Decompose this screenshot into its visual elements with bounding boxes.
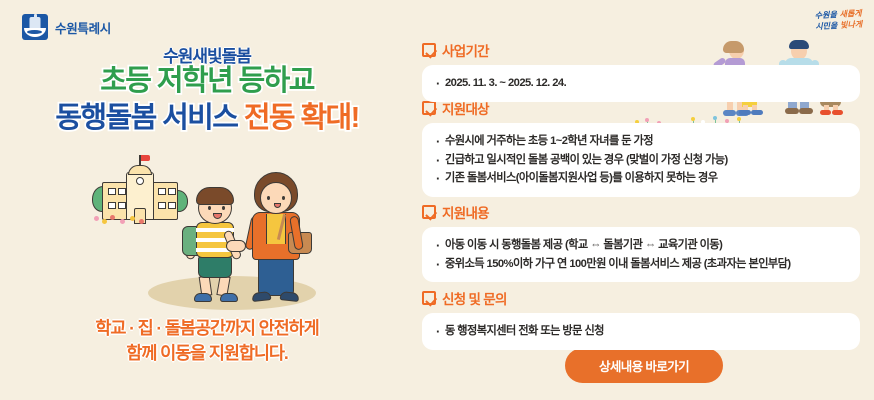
section-card: 동 행정복지센터 전화 또는 방문 신청 — [422, 313, 860, 350]
bullet-list: 아동 이동 시 동행돌봄 제공 (학교 ⇔ 돌봄기관 ⇔ 교육기관 이동) 중위… — [436, 236, 846, 273]
right-panel: 사업기간 2025. 11. 3. ~ 2025. 12. 24. 지원대상 수… — [414, 0, 874, 400]
bullet-list: 수원시에 거주하는 초등 1~2학년 자녀를 둔 가정 긴급하고 일시적인 돌봄… — [436, 132, 846, 188]
flower-bed-icon — [92, 214, 148, 226]
list-item: 긴급하고 일시적인 돌봄 공백이 있는 경우 (맞벌이 가정 신청 가능) — [436, 151, 846, 170]
section-card: 2025. 11. 3. ~ 2025. 12. 24. — [422, 65, 860, 102]
section-title: 지원내용 — [442, 202, 489, 222]
child-and-caregiver-illustration — [88, 148, 328, 316]
headline-line-2: 동행돌봄 서비스 전동 확대! — [0, 100, 414, 137]
school-building-icon — [92, 164, 188, 224]
list-item: 2025. 11. 3. ~ 2025. 12. 24. — [436, 74, 846, 93]
list-item: 동 행정복지센터 전화 또는 방문 신청 — [436, 322, 846, 341]
section-project-period: 사업기간 2025. 11. 3. ~ 2025. 12. 24. — [414, 40, 874, 102]
bottom-slogan-line-1: 학교 · 집 · 돌봄공간까지 안전하게 — [0, 316, 414, 341]
list-item: 중위소득 150%이하 가구 연 100만원 이내 돌봄서비스 제공 (초과자는… — [436, 255, 846, 274]
section-support-details: 지원내용 아동 이동 시 동행돌봄 제공 (학교 ⇔ 돌봄기관 ⇔ 교육기관 이… — [414, 202, 874, 282]
checkbox-checked-icon — [422, 43, 436, 57]
checkbox-checked-icon — [422, 291, 436, 305]
bottom-slogan: 학교 · 집 · 돌봄공간까지 안전하게 함께 이동을 지원합니다. — [0, 316, 414, 367]
section-header: 신청 및 문의 — [422, 288, 874, 308]
section-title: 사업기간 — [442, 40, 489, 60]
view-details-button[interactable]: 상세내용 바로가기 — [565, 348, 723, 383]
cta-container: 상세내용 바로가기 — [414, 348, 874, 383]
headline-line-1: 초등 저학년 등하교 — [0, 63, 414, 100]
section-card: 아동 이동 시 동행돌봄 제공 (학교 ⇔ 돌봄기관 ⇔ 교육기관 이동) 중위… — [422, 227, 860, 282]
list-item: 아동 이동 시 동행돌봄 제공 (학교 ⇔ 돌봄기관 ⇔ 교육기관 이동) — [436, 236, 846, 255]
bullet-list: 동 행정복지센터 전화 또는 방문 신청 — [436, 322, 846, 341]
left-panel: 수원새빛돌봄 초등 저학년 등하교 동행돌봄 서비스 전동 확대! — [0, 0, 414, 400]
bottom-slogan-line-2: 함께 이동을 지원합니다. — [0, 341, 414, 366]
section-card: 수원시에 거주하는 초등 1~2학년 자녀를 둔 가정 긴급하고 일시적인 돌봄… — [422, 123, 860, 197]
holding-hands — [226, 240, 246, 252]
promo-banner: 수원특례시 수원을 새롭게 시민을 빛나게 수원새빛돌봄 초등 저학년 등하교 … — [0, 0, 874, 400]
section-header: 지원내용 — [422, 202, 874, 222]
section-header: 사업기간 — [422, 40, 874, 60]
checkbox-checked-icon — [422, 101, 436, 115]
list-item: 기존 돌봄서비스(아이돌봄지원사업 등)를 이용하지 못하는 경우 — [436, 169, 846, 188]
checkbox-checked-icon — [422, 205, 436, 219]
headline: 초등 저학년 등하교 동행돌봄 서비스 전동 확대! — [0, 63, 414, 137]
section-apply-and-inquiry: 신청 및 문의 동 행정복지센터 전화 또는 방문 신청 — [414, 288, 874, 350]
list-item: 수원시에 거주하는 초등 1~2학년 자녀를 둔 가정 — [436, 132, 846, 151]
headline-line-2-service: 동행돌봄 서비스 — [55, 102, 237, 134]
caregiver-figure — [240, 170, 318, 304]
bullet-list: 2025. 11. 3. ~ 2025. 12. 24. — [436, 74, 846, 93]
section-title: 신청 및 문의 — [442, 288, 507, 308]
section-eligibility: 지원대상 수원시에 거주하는 초등 1~2학년 자녀를 둔 가정 긴급하고 일시… — [414, 98, 874, 197]
headline-line-2-expand: 전동 확대! — [244, 102, 359, 134]
